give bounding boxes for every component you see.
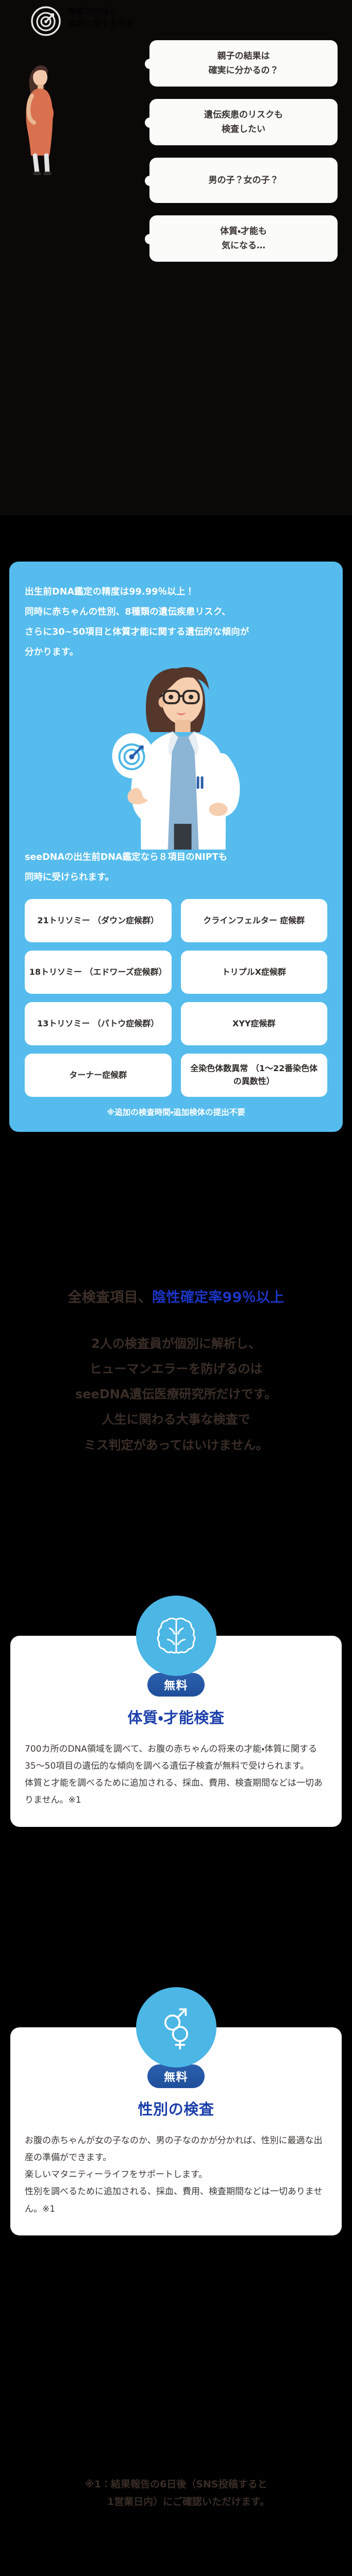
sub-line-2: 同時に受けられます。 [25,868,327,888]
statement-body-line-3: seeDNA遺伝医療研究所だけです。 [0,1382,352,1407]
brain-icon [136,1596,216,1676]
bubble-line1: 男の子？女の子？ [158,173,329,188]
statement-body: 2人の検査員が個別に解析し、 ヒューマンエラーを防げるのは seeDNA遺伝医療… [0,1331,352,1458]
condition-cell: 21トリソミー （ダウン症候群） [25,899,172,942]
feature-body: お腹の赤ちゃんが女の子なのか、男の子なのかが分かれば、性別に最適な出産の準備がで… [25,2132,327,2218]
feature-title: 性別の検査 [25,2097,327,2119]
statement-body-line-2: ヒューマンエラーを防げるのは [0,1357,352,1382]
free-badge: 無料 [147,2064,205,2088]
statement-section: 全検査項目、陰性確定率99％以上 2人の検査員が個別に解析し、 ヒューマンエラー… [0,1288,352,1458]
bubble-line2: 検査したい [158,122,329,137]
bubble-line2: 確実に分かるの？ [158,63,329,78]
speech-bubble: 男の子？女の子？ [149,158,338,203]
pregnant-woman-illustration [14,57,76,175]
footnote: ※1：結果報告の6日後（SNS投稿すると 1営業日内）にご確認いただけます。 [0,2476,352,2511]
blue-panel-lead: 出生前DNA鑑定の精度は99.99％以上！ 同時に赤ちゃんの性別、8種類の遺伝疾… [25,582,327,662]
footnote-line-1: ※1：結果報告の6日後（SNS投稿すると [0,2476,352,2493]
target-icon [31,6,61,36]
condition-grid: 21トリソミー （ダウン症候群） クラインフェルター 症候群 18トリソミー （… [25,899,327,1097]
feature-title: 体質・才能検査 [25,1706,327,1727]
condition-cell: 全染色体数異常 （1〜22番染色体 の異数性） [181,1054,328,1097]
blue-panel-note: ※追加の検査時間・追加検体の提出不要 [25,1106,327,1117]
free-badge: 無料 [147,1673,205,1697]
bubble-line1: 親子の結果は [158,49,329,63]
feature-card-constitution-talent: 無料 体質・才能検査 700カ所のDNA領域を調べて、お腹の赤ちゃんの将来の才能… [10,1636,342,1827]
doctor-illustration-wrap [25,659,327,850]
lead-line-1: 出生前DNA鑑定の精度は99.99％以上！ [25,582,327,602]
bubble-line1: 体質・才能も [158,224,329,239]
lead-line-2: 同時に赤ちゃんの性別、8種類の遺伝疾患リスク、 [25,602,327,622]
statement-body-line-4: 人生に関わる大事な検査で [0,1407,352,1432]
blue-panel-subtext: seeDNAの出生前DNA鑑定なら８項目のNIPTも 同時に受けられます。 [25,848,327,888]
speech-bubble: 親子の結果は 確実に分かるの？ [149,40,338,87]
speech-bubble: 体質・才能も 気になる… [149,215,338,262]
condition-cell: 13トリソミー （パトウ症候群） [25,1002,172,1045]
condition-cell: XYY症候群 [181,1002,328,1045]
page-title-line1: 検査の内容と [68,4,134,16]
female-doctor-illustration [95,659,271,852]
gender-symbols-icon [136,1987,216,2067]
condition-cell: クラインフェルター 症候群 [181,899,328,942]
hero-section: 検査の内容と 精度に関する不安 [0,0,352,515]
condition-cell: ターナー症候群 [25,1054,172,1097]
page-title: 検査の内容と 精度に関する不安 [31,4,134,36]
statement-headline-plain: 全検査項目、 [68,1290,153,1306]
speech-bubble-list: 親子の結果は 確実に分かるの？ 遺伝疾患のリスクも 検査したい 男の子？女の子？… [149,40,338,274]
feature-card-gender: 無料 性別の検査 お腹の赤ちゃんが女の子なのか、男の子なのかが分かれば、性別に最… [10,2027,342,2235]
feature-body: 700カ所のDNA領域を調べて、お腹の赤ちゃんの将来の才能・体質に関する35〜5… [25,1741,327,1809]
footnote-line-2: 1営業日内）にご確認いただけます。 [0,2493,352,2511]
statement-headline-highlight: 陰性確定率99％以上 [152,1290,284,1306]
blue-info-panel: 出生前DNA鑑定の精度は99.99％以上！ 同時に赤ちゃんの性別、8種類の遺伝疾… [9,562,343,1132]
bubble-line1: 遺伝疾患のリスクも [158,108,329,122]
page-title-line2: 精度に関する不安 [68,16,134,29]
statement-headline: 全検査項目、陰性確定率99％以上 [0,1288,352,1308]
statement-body-line-1: 2人の検査員が個別に解析し、 [0,1331,352,1357]
condition-cell: トリプルX症候群 [181,951,328,994]
statement-body-line-5: ミス判定があってはいけません。 [0,1433,352,1458]
speech-bubble: 遺伝疾患のリスクも 検査したい [149,99,338,145]
bubble-line2: 気になる… [158,239,329,253]
lead-line-3: さらに30~50項目と体質才能に関する遺伝的な傾向が [25,622,327,642]
condition-cell: 18トリソミー （エドワーズ症候群） [25,951,172,994]
